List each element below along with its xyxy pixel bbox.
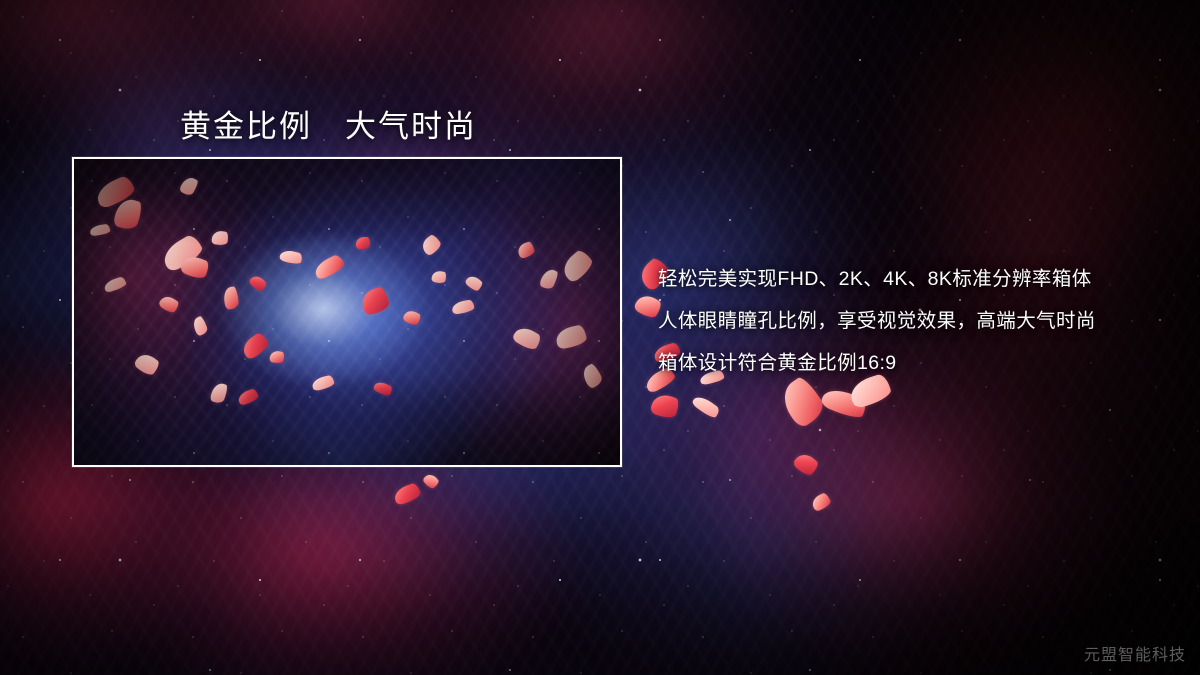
presentation-slide: 黄金比例 大气时尚 轻松完美实现FHD、2K、4K、8K标准分辨率箱体 人体眼睛… [0,0,1200,675]
page-title: 黄金比例 大气时尚 [180,101,477,146]
nebula-photo-shading [74,159,620,465]
description-line-1: 轻松完美实现FHD、2K、4K、8K标准分辨率箱体 [658,258,1158,300]
description-block: 轻松完美实现FHD、2K、4K、8K标准分辨率箱体 人体眼睛瞳孔比例，享受视觉效… [658,258,1158,384]
nebula-photo-frame [72,157,622,467]
description-line-3: 箱体设计符合黄金比例16:9 [658,342,1158,384]
description-line-2: 人体眼睛瞳孔比例，享受视觉效果，高端大气时尚 [658,300,1158,342]
brand-watermark: 元盟智能科技 [1084,641,1186,665]
